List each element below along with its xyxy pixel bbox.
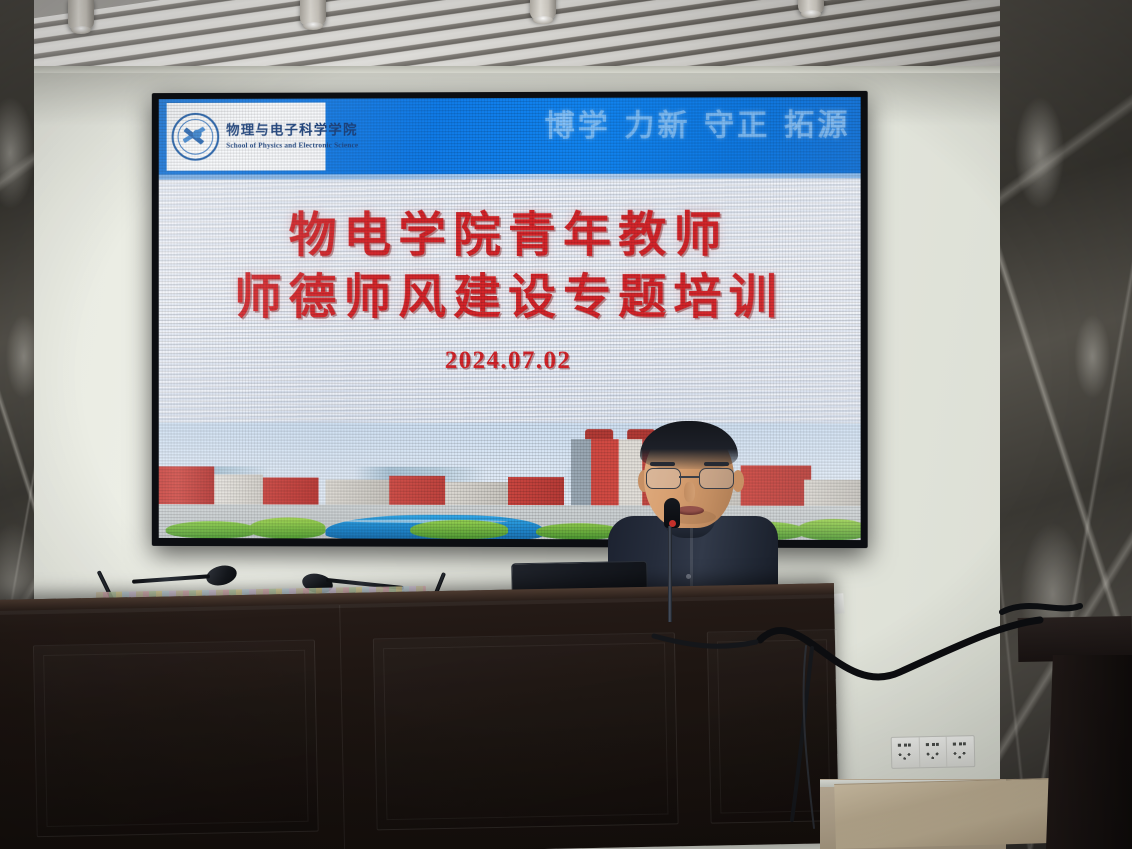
slide-date: 2024.07.02 xyxy=(159,347,861,375)
slide-title-line-1: 物电学院青年教师 xyxy=(159,203,861,266)
school-motto: 博学 力新 守正 拓源 xyxy=(509,97,851,160)
wall-trim xyxy=(28,66,1006,73)
power-socket-1[interactable] xyxy=(892,737,920,768)
presenter-shirt-button xyxy=(686,574,691,579)
ceiling-spotlight-1 xyxy=(68,0,94,30)
lectern-body xyxy=(1046,655,1132,849)
handheld-microphone-indicator xyxy=(669,520,676,527)
presenter-mouth xyxy=(676,506,704,515)
presenter-placket xyxy=(690,528,693,590)
leaning-wooden-board xyxy=(834,778,1068,849)
panorama-trees xyxy=(166,521,256,538)
school-name-block: 物理与电子科学学院 School of Physics and Electron… xyxy=(226,124,358,150)
microphone-gooseneck-horizontal xyxy=(132,574,210,583)
eyeglass-lens-left xyxy=(646,468,681,489)
presenter-eyebrow-left xyxy=(650,462,675,466)
desk-seam xyxy=(339,605,345,849)
panorama-trees xyxy=(249,517,326,538)
presenter-nose xyxy=(684,482,695,502)
power-socket-2[interactable] xyxy=(919,737,947,768)
panorama-trees xyxy=(410,520,508,539)
school-name-cn: 物理与电子科学学院 xyxy=(226,124,358,139)
slide-title-line-2: 师德师风建设专题培训 xyxy=(159,266,861,329)
power-outlet-panel[interactable] xyxy=(891,735,976,769)
ceiling-spotlight-3 xyxy=(530,0,556,20)
presentation-room-photo: 博学 力新 守正 拓源 物理与电子科学学院 School of Physics … xyxy=(0,0,1132,849)
campus-building xyxy=(159,466,215,508)
ceiling-spotlight-2 xyxy=(300,0,326,26)
handheld-microphone-stem xyxy=(668,526,672,622)
desk-front-panel xyxy=(373,632,679,830)
seal-emblem-icon xyxy=(183,125,207,147)
campus-building xyxy=(214,474,263,508)
desk-front-panel xyxy=(33,640,319,838)
eyeglass-lens-right xyxy=(699,468,734,489)
slide-title-block: 物电学院青年教师 师德师风建设专题培训 2024.07.02 xyxy=(159,203,861,375)
presenter-eyebrow-right xyxy=(704,462,729,466)
eyeglass-bridge xyxy=(679,476,699,478)
power-socket-3[interactable] xyxy=(947,736,974,767)
ceiling-spotlight-4 xyxy=(798,0,824,14)
slide-header-band: 博学 力新 守正 拓源 物理与电子科学学院 School of Physics … xyxy=(159,97,861,175)
panorama-trees xyxy=(797,519,861,540)
school-name-en: School of Physics and Electronic Science xyxy=(226,141,358,149)
podium-desk xyxy=(0,583,839,849)
school-logo-plate: 物理与电子科学学院 School of Physics and Electron… xyxy=(167,103,326,171)
university-seal-icon xyxy=(172,113,220,161)
